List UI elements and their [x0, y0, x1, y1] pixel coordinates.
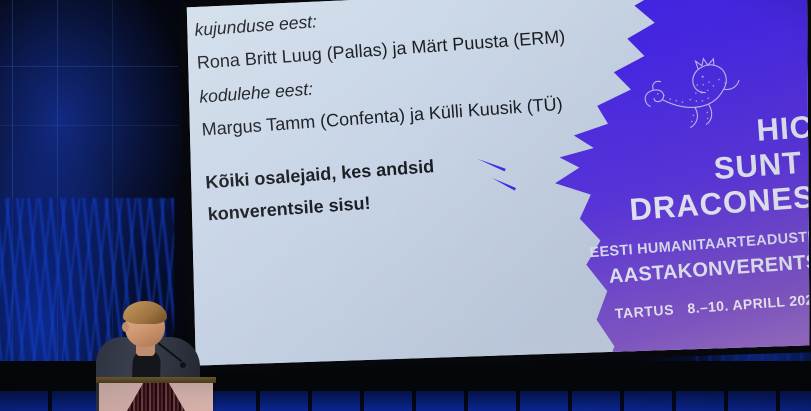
dragon-icon	[635, 54, 745, 139]
logo-word-hic: HIC	[755, 109, 811, 149]
microphone-capsule	[180, 362, 186, 368]
lectern-shading	[96, 377, 216, 411]
projection-screen: Korraldajad tänavad kujunduse eest: Rona…	[168, 0, 811, 372]
projection-screen-frame: Korraldajad tänavad kujunduse eest: Rona…	[168, 0, 811, 372]
speaker-ear	[122, 322, 129, 332]
presentation-slide: Korraldajad tänavad kujunduse eest: Rona…	[168, 0, 811, 372]
screenshot-root: Korraldajad tänavad kujunduse eest: Rona…	[0, 0, 811, 411]
lectern	[96, 377, 216, 411]
speaker-hair	[123, 301, 167, 324]
